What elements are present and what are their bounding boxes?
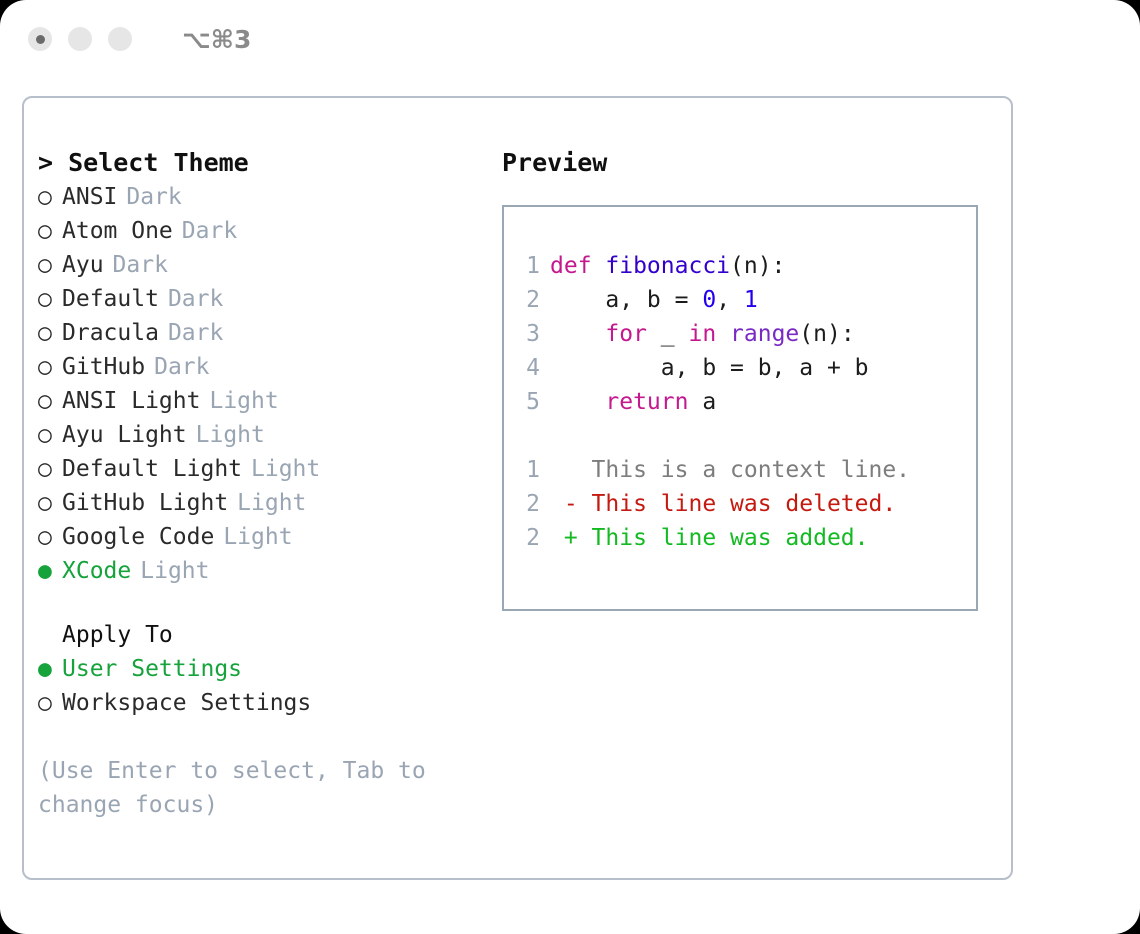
theme-variant-tag: Dark <box>159 316 223 350</box>
line-number: 5 <box>504 385 550 419</box>
code-line: 4 a, b = b, a + b <box>504 351 976 385</box>
spacer <box>504 419 976 453</box>
code-line: 3 for _ in range(n): <box>504 317 976 351</box>
code-line-text: a, b = 0, 1 <box>550 283 758 317</box>
theme-variant-tag: Light <box>187 418 265 452</box>
theme-option-label: GitHub Light <box>62 486 228 520</box>
radio-empty-icon: ○ <box>38 248 62 282</box>
theme-option-label: ANSI <box>62 180 117 214</box>
main-panel: > Select Theme ○ANSIDark○Atom OneDark○Ay… <box>22 96 1013 880</box>
code-line-text: def fibonacci(n): <box>550 249 785 283</box>
theme-variant-tag: Light <box>214 520 292 554</box>
record-dot-center <box>36 35 45 44</box>
keyboard-shortcut-label: ⌥⌘3 <box>182 25 251 54</box>
theme-variant-tag: Dark <box>173 214 237 248</box>
dot-3-icon[interactable] <box>108 27 132 51</box>
token-kw: for <box>605 321 647 347</box>
theme-option-row[interactable]: ○Default LightLight <box>38 452 502 486</box>
preview-heading: Preview <box>502 146 1011 180</box>
preview-column: Preview 1def fibonacci(n):2 a, b = 0, 13… <box>502 98 1011 878</box>
theme-option-row[interactable]: ○GitHubDark <box>38 350 502 384</box>
token-plain: a <box>688 389 716 415</box>
theme-list[interactable]: ○ANSIDark○Atom OneDark○AyuDark○DefaultDa… <box>38 180 502 588</box>
theme-option-row[interactable]: ○DefaultDark <box>38 282 502 316</box>
radio-empty-icon: ○ <box>38 350 62 384</box>
theme-option-row[interactable]: ○Google CodeLight <box>38 520 502 554</box>
radio-empty-icon: ○ <box>38 282 62 316</box>
radio-empty-icon: ○ <box>38 686 62 720</box>
theme-option-label: Ayu Light <box>62 418 187 452</box>
code-line-text: for _ in range(n): <box>550 317 855 351</box>
token-plain: , <box>716 287 744 313</box>
theme-option-label: GitHub <box>62 350 145 384</box>
token-num: 0 <box>702 287 716 313</box>
token-plain <box>716 321 730 347</box>
theme-option-row[interactable]: ○AyuDark <box>38 248 502 282</box>
apply-to-option-label: User Settings <box>62 652 242 686</box>
line-number: 1 <box>504 249 550 283</box>
radio-empty-icon: ○ <box>38 384 62 418</box>
theme-option-label: Dracula <box>62 316 159 350</box>
theme-option-label: ANSI Light <box>62 384 200 418</box>
token-call: range <box>730 321 799 347</box>
token-plain <box>550 389 605 415</box>
code-preview: 1def fibonacci(n):2 a, b = 0, 13 for _ i… <box>504 249 976 419</box>
apply-to-option-label: Workspace Settings <box>62 686 311 720</box>
title-bar: ⌥⌘3 <box>0 0 1140 78</box>
radio-empty-icon: ○ <box>38 418 62 452</box>
theme-option-row[interactable]: ○ANSI LightLight <box>38 384 502 418</box>
preview-box: 1def fibonacci(n):2 a, b = 0, 13 for _ i… <box>502 205 978 611</box>
line-number: 2 <box>504 521 550 555</box>
theme-variant-tag: Dark <box>104 248 168 282</box>
radio-empty-icon: ○ <box>38 316 62 350</box>
line-number: 3 <box>504 317 550 351</box>
token-kw: return <box>605 389 688 415</box>
theme-option-label: Atom One <box>62 214 173 248</box>
theme-option-label: Google Code <box>62 520 214 554</box>
theme-option-row[interactable]: ○GitHub LightLight <box>38 486 502 520</box>
diff-line-text: + This line was added. <box>550 521 869 555</box>
theme-option-label: XCode <box>62 554 131 588</box>
app-window: ⌥⌘3 > Select Theme ○ANSIDark○Atom OneDar… <box>0 0 1140 934</box>
diff-line-text: - This line was deleted. <box>550 487 896 521</box>
token-fn: fibonacci <box>605 253 730 279</box>
token-punct: (n): <box>799 321 854 347</box>
theme-option-row[interactable]: ○Ayu LightLight <box>38 418 502 452</box>
radio-empty-icon: ○ <box>38 214 62 248</box>
theme-variant-tag: Dark <box>159 282 223 316</box>
code-line-text: return a <box>550 385 716 419</box>
token-kw: def <box>550 253 605 279</box>
diff-line: 1 This is a context line. <box>504 453 976 487</box>
code-line: 2 a, b = 0, 1 <box>504 283 976 317</box>
theme-option-label: Default <box>62 282 159 316</box>
apply-to-heading: Apply To <box>38 618 502 652</box>
theme-variant-tag: Light <box>131 554 209 588</box>
apply-to-list[interactable]: ●User Settings○Workspace Settings <box>38 652 502 720</box>
select-theme-heading: > Select Theme <box>38 146 502 180</box>
apply-to-option-row[interactable]: ●User Settings <box>38 652 502 686</box>
radio-selected-icon: ● <box>38 652 62 686</box>
diff-line: 2 + This line was added. <box>504 521 976 555</box>
diff-line: 2 - This line was deleted. <box>504 487 976 521</box>
record-dot-icon[interactable] <box>28 27 52 51</box>
apply-to-option-row[interactable]: ○Workspace Settings <box>38 686 502 720</box>
diff-line-text: This is a context line. <box>550 453 910 487</box>
theme-variant-tag: Light <box>228 486 306 520</box>
theme-option-row[interactable]: ○Atom OneDark <box>38 214 502 248</box>
theme-option-label: Default Light <box>62 452 242 486</box>
theme-variant-tag: Light <box>200 384 278 418</box>
token-punct: (n): <box>730 253 785 279</box>
diff-preview: 1 This is a context line.2 - This line w… <box>504 453 976 555</box>
token-plain <box>550 321 605 347</box>
radio-empty-icon: ○ <box>38 486 62 520</box>
keyboard-hint-text: (Use Enter to select, Tab to change focu… <box>38 754 448 822</box>
radio-empty-icon: ○ <box>38 452 62 486</box>
dot-2-icon[interactable] <box>68 27 92 51</box>
line-number: 2 <box>504 487 550 521</box>
spacer <box>38 588 502 618</box>
theme-variant-tag: Light <box>242 452 320 486</box>
theme-option-row[interactable]: ●XCodeLight <box>38 554 502 588</box>
token-num: 1 <box>744 287 758 313</box>
token-plain: a, b = b, a + b <box>550 355 869 381</box>
line-number: 4 <box>504 351 550 385</box>
line-number: 1 <box>504 453 550 487</box>
code-line-text: a, b = b, a + b <box>550 351 869 385</box>
radio-empty-icon: ○ <box>38 520 62 554</box>
token-plain: a, b = <box>550 287 702 313</box>
radio-empty-icon: ○ <box>38 180 62 214</box>
code-line: 5 return a <box>504 385 976 419</box>
theme-selector-column: > Select Theme ○ANSIDark○Atom OneDark○Ay… <box>24 98 502 878</box>
theme-variant-tag: Dark <box>117 180 181 214</box>
line-number: 2 <box>504 283 550 317</box>
theme-variant-tag: Dark <box>145 350 209 384</box>
theme-option-label: Ayu <box>62 248 104 282</box>
code-line: 1def fibonacci(n): <box>504 249 976 283</box>
theme-option-row[interactable]: ○ANSIDark <box>38 180 502 214</box>
radio-selected-icon: ● <box>38 554 62 588</box>
token-kw: in <box>688 321 716 347</box>
theme-option-row[interactable]: ○DraculaDark <box>38 316 502 350</box>
token-plain: _ <box>647 321 689 347</box>
